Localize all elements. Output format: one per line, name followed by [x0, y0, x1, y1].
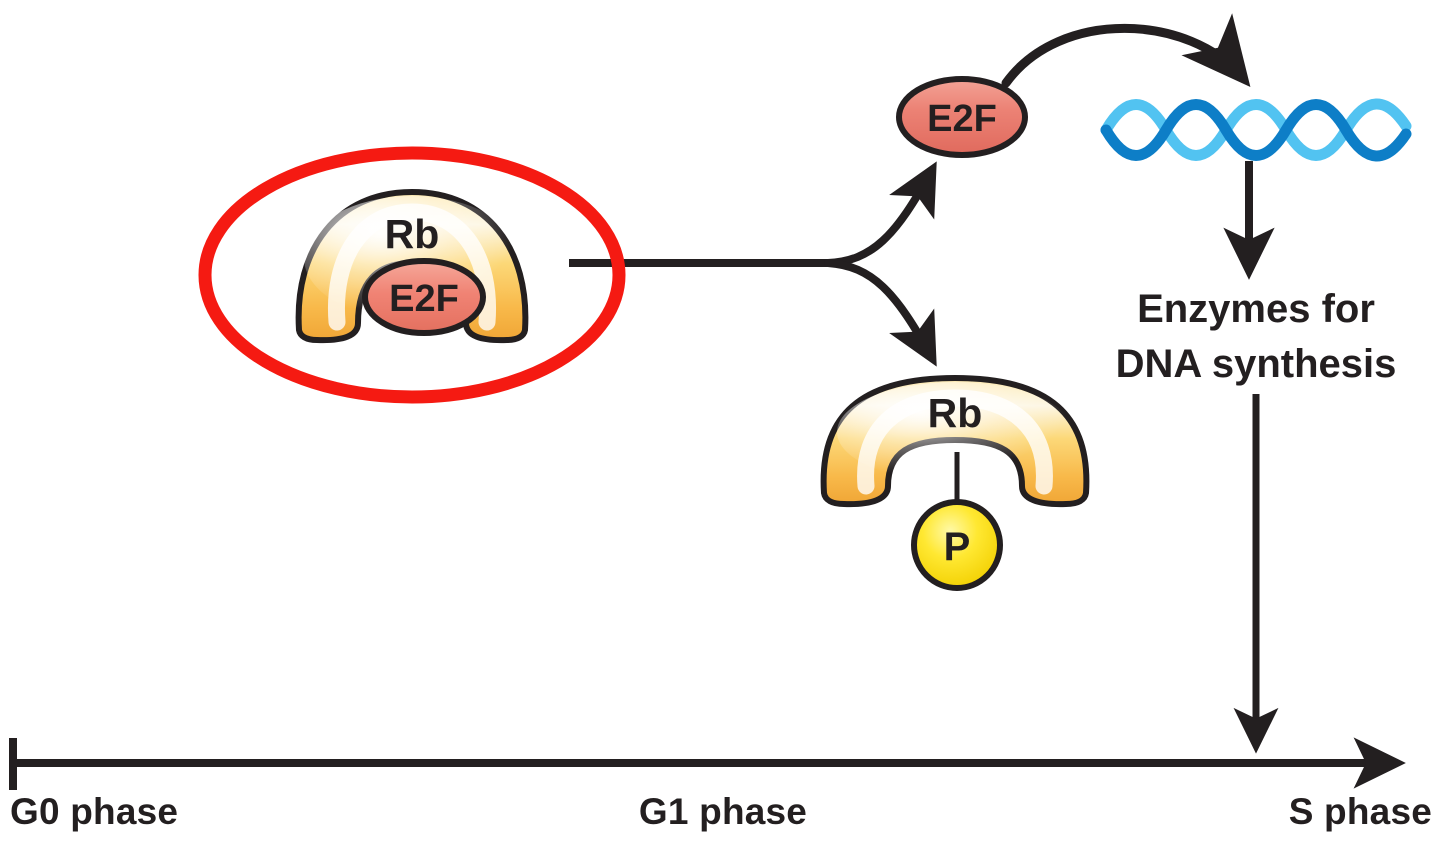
phase-label-s: S phase [1289, 791, 1432, 832]
fork-to-rb-phospho-arrow [828, 263, 932, 358]
dna-double-helix [1106, 104, 1406, 156]
phase-label-g0: G0 phase [10, 791, 178, 832]
phosphate-label: P [944, 525, 971, 569]
cell-cycle-timeline-axis [10, 738, 1396, 790]
rb-phospho-label: Rb [928, 390, 983, 436]
enzymes-label-line1: Enzymes for [1137, 287, 1375, 331]
fork-to-e2f-arrow [828, 170, 932, 263]
e2f-bound-label: E2F [389, 278, 459, 320]
e2f-to-dna-arrow [1006, 28, 1243, 83]
rb-complex-label: Rb [385, 211, 440, 257]
enzymes-label-line2: DNA synthesis [1116, 342, 1397, 386]
diagram-canvas: Rb E2F E2F Rb P Enzymes for DNA synthesi… [0, 0, 1440, 846]
diagram-svg: Rb E2F E2F Rb P Enzymes for DNA synthesi… [0, 0, 1440, 846]
phase-label-g1: G1 phase [639, 791, 807, 832]
free-e2f-label: E2F [927, 98, 997, 140]
